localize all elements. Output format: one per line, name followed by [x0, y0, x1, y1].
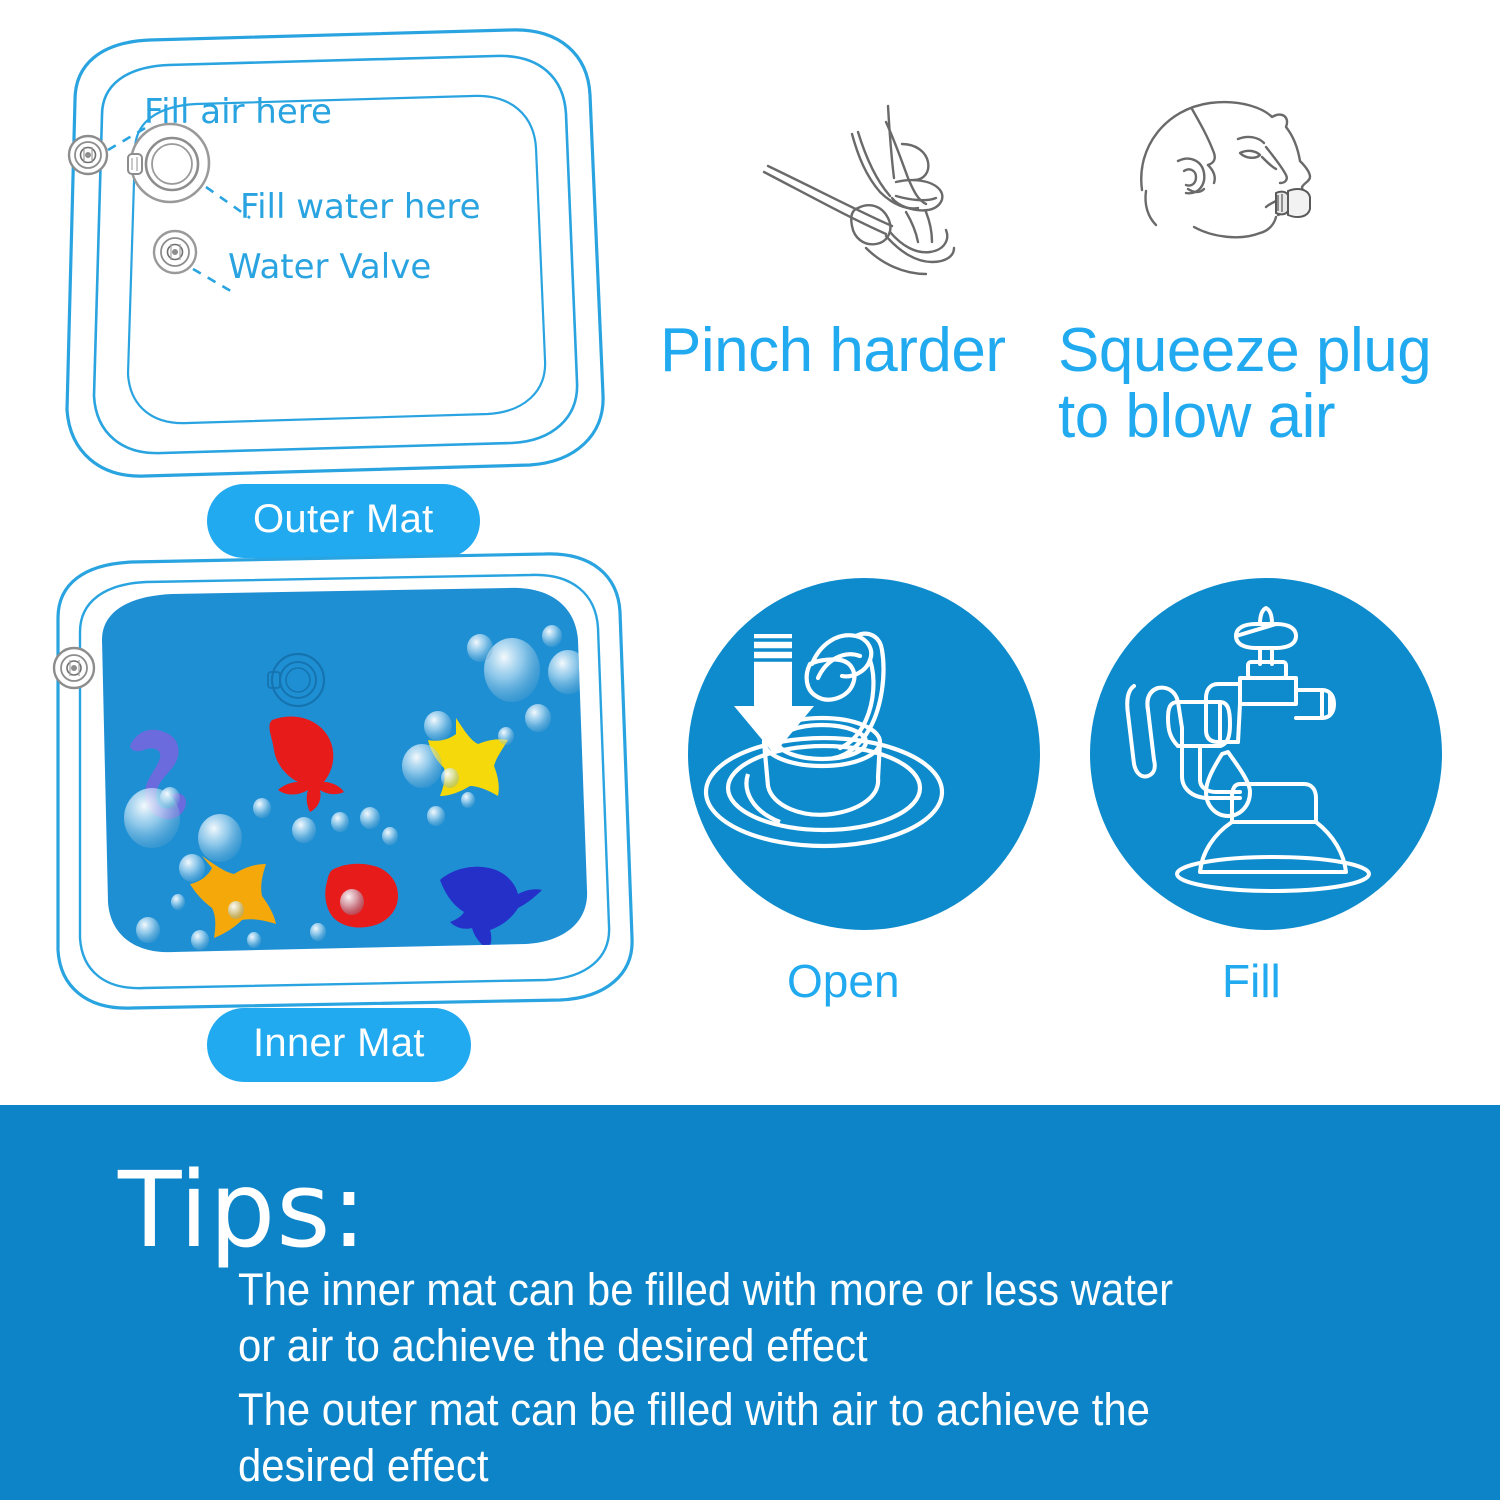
infographic-root: Fill air here Fill water here Water Valv… — [0, 0, 1500, 1500]
badge-outer-mat: Outer Mat — [207, 484, 480, 558]
inner-mat-air-valve-icon — [54, 648, 94, 688]
head-blowing-plug-icon — [1090, 95, 1390, 320]
hand-pinching-plug-icon — [740, 100, 1000, 320]
water-valve-icon — [154, 231, 196, 273]
down-arrow-icon — [734, 634, 814, 754]
faucet-fill-icon — [1090, 578, 1442, 930]
caption-pinch-harder: Pinch harder — [660, 318, 1006, 384]
mouth-plug-icon — [1276, 189, 1310, 217]
inner-mat-illustration — [40, 550, 640, 1010]
caption-open: Open — [787, 958, 900, 1004]
callout-fill-air: Fill air here — [144, 95, 332, 129]
faucet-handle — [1236, 624, 1296, 648]
caption-fill: Fill — [1222, 958, 1281, 1004]
water-fill-port-icon — [128, 124, 209, 202]
caption-squeeze-plug: Squeeze plug to blow air — [1058, 318, 1431, 449]
tips-line-2: The outer mat can be filled with air to … — [238, 1382, 1150, 1494]
valve-open-icon — [688, 578, 1040, 930]
tips-title: Tips: — [118, 1158, 367, 1262]
air-valve-icon — [69, 136, 107, 174]
callout-fill-water: Fill water here — [240, 190, 481, 224]
badge-inner-mat: Inner Mat — [207, 1008, 471, 1082]
tips-line-1: The inner mat can be filled with more or… — [238, 1262, 1173, 1374]
callout-water-valve: Water Valve — [228, 250, 431, 284]
